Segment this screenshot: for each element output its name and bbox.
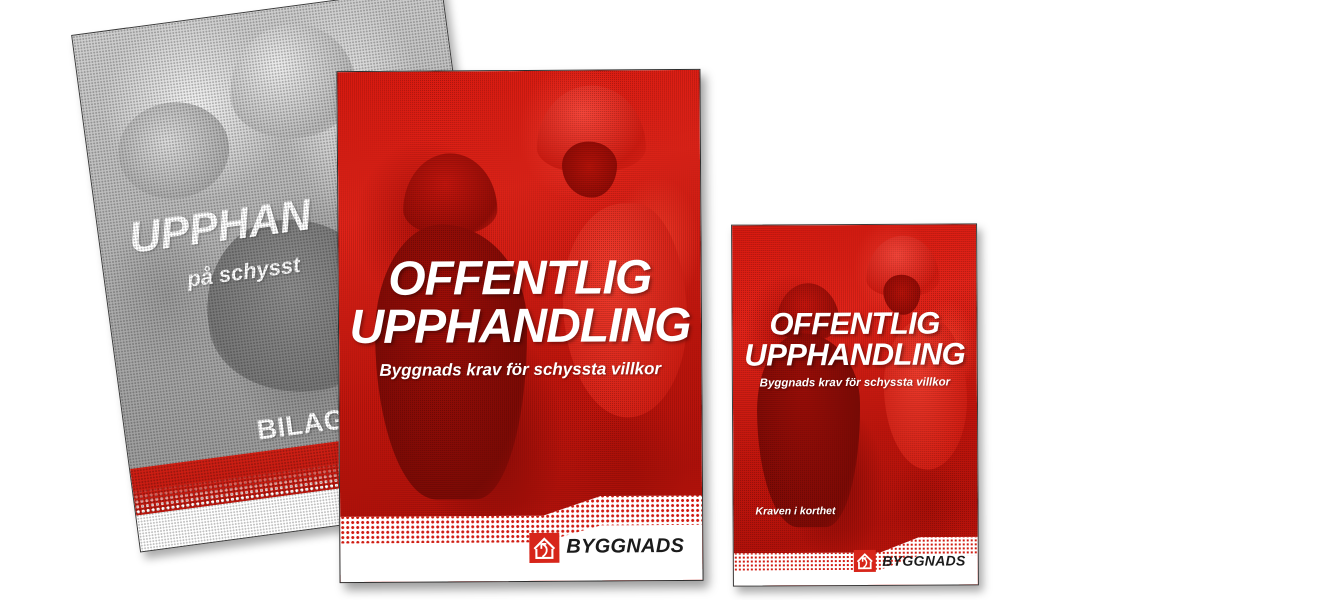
publication-mockup-scene: UPPHAN på schysst BILAGA OFFENTLIG UP [0,0,1320,600]
document-main-cover[interactable]: OFFENTLIG UPPHANDLING Byggnads krav för … [336,69,703,583]
worker-face-shape [562,142,617,198]
main-cover-title-line2: UPPHANDLING [339,301,701,351]
booklet-title-line2: UPPHANDLING [733,338,977,370]
document-pocket-booklet[interactable]: OFFENTLIG UPPHANDLING Byggnads krav för … [731,223,979,586]
byggnads-house-logo-icon [853,550,875,572]
byggnads-logo-wordmark: BYGGNADS [882,552,965,568]
worker-helmet-shape-secondary [112,95,235,205]
byggnads-logo[interactable]: BYGGNADS [529,532,684,563]
document-small-inner: OFFENTLIG UPPHANDLING Byggnads krav för … [732,224,978,585]
document-main-inner: OFFENTLIG UPPHANDLING Byggnads krav för … [337,70,702,582]
main-cover-subtitle: Byggnads krav för schyssta villkor [339,358,701,380]
booklet-subtitle: Byggnads krav för schyssta villkor [733,376,977,389]
byggnads-logo[interactable]: BYGGNADS [853,549,965,572]
booklet-footnote: Kraven i korthet [755,505,835,517]
main-cover-title-block: OFFENTLIG UPPHANDLING Byggnads krav för … [339,253,702,380]
byggnads-logo-wordmark: BYGGNADS [566,535,684,559]
booklet-title-line1: OFFENTLIG [732,307,976,339]
hard-hat-secondary-icon [403,153,498,235]
main-cover-title-line1: OFFENTLIG [339,253,701,303]
byggnads-house-logo-icon [529,532,559,562]
booklet-title-block: OFFENTLIG UPPHANDLING Byggnads krav för … [732,307,976,389]
booklet-cover-photo [732,224,978,585]
